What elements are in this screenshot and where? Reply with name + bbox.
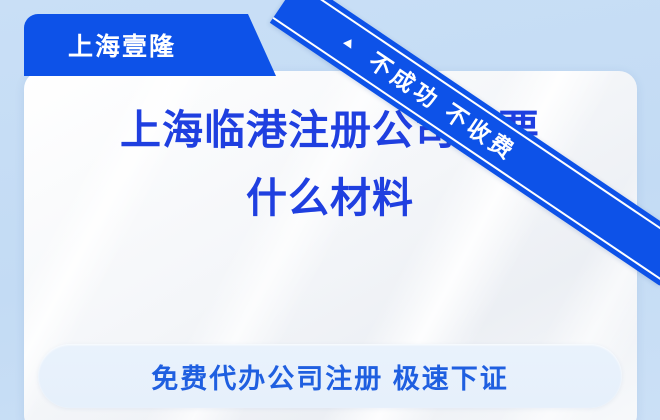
promo-poster: 上海壹隆 上海临港注册公司需要 什么材料 免费代办公司注册 极速下证 不成功 不… xyxy=(0,0,660,420)
cta-banner[interactable]: 免费代办公司注册 极速下证 xyxy=(38,344,622,408)
cta-label: 免费代办公司注册 极速下证 xyxy=(151,357,509,396)
brand-name-label: 上海壹隆 xyxy=(68,27,176,63)
triangle-up-icon xyxy=(343,37,356,49)
brand-tab: 上海壹隆 xyxy=(24,14,276,76)
